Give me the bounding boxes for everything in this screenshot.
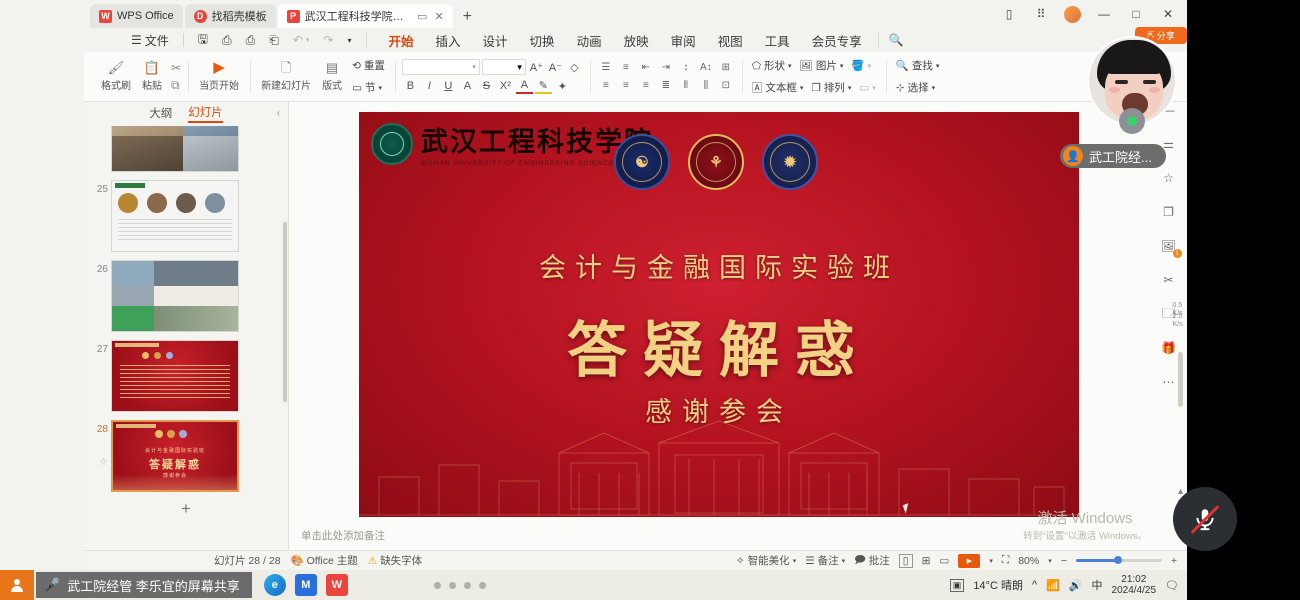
slide-thumbnail[interactable] [111, 340, 239, 412]
new-tab-button[interactable]: + [455, 8, 480, 28]
button-label: 节 [365, 80, 376, 95]
arrange-icon: ❐ [811, 82, 820, 94]
network-up-speed: 2.5 K/s [1173, 313, 1183, 329]
dot [464, 582, 471, 589]
slide-subtitle: 会计与金融国际实验班 [359, 246, 1079, 285]
notes-pane[interactable]: 单击此处添加备注 [289, 522, 1187, 550]
fill-icon: 🪣 [851, 59, 864, 72]
panel-tabs: 大纲 幻灯片 ‹ [84, 102, 288, 124]
ribbon-tab-review[interactable]: 审阅 [660, 29, 707, 52]
tray-expand-icon[interactable]: ^ [1032, 579, 1037, 591]
print-icon[interactable]: ⎙ [241, 31, 261, 50]
missing-font-label: 缺失字体 [380, 553, 422, 568]
button-label: 新建幻灯片 [261, 77, 311, 92]
hamburger-icon: ☰ [131, 33, 142, 47]
list-item[interactable]: 25 [84, 176, 288, 256]
tab-wps-office[interactable]: W WPS Office [90, 4, 183, 28]
taskbar: 🎤 武工院经管 李乐宜的屏幕共享 e M W ▣ 14°C 晴朗 ^ 📶 🔊 中… [0, 570, 1187, 600]
minimize-button[interactable]: — [1089, 2, 1119, 26]
ribbon-tab-insert[interactable]: 插入 [425, 29, 472, 52]
more-icon[interactable]: ⋯ [1158, 372, 1180, 392]
dot [449, 582, 456, 589]
mic-icon[interactable]: 🎤 [44, 577, 60, 593]
beauty-wand-icon: ✧ [736, 555, 745, 567]
align-left-icon[interactable]: ≡ [597, 78, 615, 93]
volume-icon[interactable]: 🔊 [1069, 579, 1083, 592]
button-label: 重置 [364, 58, 385, 73]
section-icon: ▭ [352, 82, 362, 94]
slide-header: 武汉工程科技学院 WUHAN UNIVERSITY OF ENGINEERING… [371, 120, 653, 167]
clock-date: 2024/4/25 [1112, 585, 1157, 596]
find-button[interactable]: 🔍 查找▾ [893, 56, 943, 75]
docer-icon: D [194, 10, 207, 23]
slide-thumbnail[interactable] [111, 126, 239, 172]
ribbon-group-slides: 🗋 新建幻灯片 ▤ 版式 ⟲ 重置 ▭ 节 ▾ [250, 54, 395, 100]
list-item[interactable]: 28 ☆ 会计与金融国际实验班 答疑解惑 感谢参会 [84, 416, 288, 496]
start-icon[interactable] [0, 570, 34, 600]
comment-label: 批注 [869, 553, 890, 568]
beautify-label: 智能美化 [748, 553, 790, 568]
theme-value: Office 主题 [307, 553, 358, 568]
smartart-icon[interactable]: ⊡ [717, 78, 735, 93]
slide-number-value: 28 [97, 424, 108, 435]
tab-monitor-icon[interactable]: ▭ [417, 10, 427, 23]
warning-icon: ⚠ [368, 555, 377, 567]
status-bar: 幻灯片 28 / 28 🎨 Office 主题 ⚠ 缺失字体 ✧ 智能美化 ▾ … [84, 550, 1187, 570]
slide-editor-stage: 武汉工程科技学院 WUHAN UNIVERSITY OF ENGINEERING… [289, 102, 1187, 550]
missing-font-warning[interactable]: ⚠ 缺失字体 [368, 553, 422, 568]
document-tabs: W WPS Office D 找稻壳模板 P 武汉工程科技学院经济与管理 ▭ ✕… [84, 0, 480, 28]
participant-mic-indicator[interactable] [1119, 108, 1145, 134]
logo-badge-3: ✹ [762, 134, 818, 190]
search-icon[interactable]: 🔍 [884, 31, 909, 49]
wps-taskbar-icon[interactable]: W [326, 574, 348, 596]
numbered-list-icon[interactable]: ≡ [617, 60, 635, 75]
distribute-icon[interactable]: ⫴ [677, 78, 695, 93]
select-icon: ⊹ [896, 82, 905, 94]
slide-thumbnail-panel: 大纲 幻灯片 ‹ 24 25 [84, 102, 289, 550]
notes-icon: ☰ [805, 555, 814, 567]
slide-sorter-icon[interactable]: ⊞ [922, 555, 931, 567]
reading-view-icon[interactable]: ▭ [939, 555, 949, 567]
close-button[interactable]: ✕ [1153, 2, 1183, 26]
zoom-slider-fill [1076, 559, 1117, 562]
text-effect-icon[interactable]: ✦ [554, 78, 571, 94]
font-size-select[interactable]: ▾ [482, 59, 526, 75]
ribbon-tabs: 开始 插入 设计 切换 动画 放映 审阅 视图 工具 会员专享 🔍 [378, 29, 909, 52]
button-label: 形状 [764, 58, 785, 73]
clock-time: 21:02 [1121, 574, 1146, 585]
gift-icon[interactable]: 🎁 [1158, 338, 1180, 358]
wifi-icon[interactable]: 📶 [1046, 579, 1060, 592]
superscript-button[interactable]: X² [497, 78, 514, 94]
fit-to-window-icon[interactable]: ⛶ [1002, 554, 1009, 567]
add-slide-button[interactable]: + [84, 499, 288, 519]
button-label: 选择 [908, 80, 929, 95]
picture-button[interactable]: 🖼 图片▾ [797, 56, 847, 75]
system-tray: ▣ 14°C 晴朗 ^ 📶 🔊 中 21:02 2024/4/25 🗨 [950, 574, 1187, 597]
avatar-eye-right [1143, 80, 1156, 84]
print-preview-icon[interactable]: ⎗ [264, 31, 284, 50]
screenshot-icon[interactable]: 🖼1 [1158, 236, 1180, 256]
highlight-icon[interactable]: ✎ [535, 78, 552, 94]
divider [183, 33, 184, 47]
collapse-panel-icon[interactable]: ‹ [277, 108, 280, 119]
strikethrough-button[interactable]: S [478, 78, 495, 94]
logo-badges: ☯ ⚘ ✹ [614, 134, 818, 190]
outline-icon: ▭ [859, 82, 869, 94]
file-menu-button[interactable]: ☰ 文件 [126, 30, 174, 51]
slide-number: 26 [88, 260, 108, 275]
slide-thumbnail-selected[interactable]: 会计与金融国际实验班 答疑解惑 感谢参会 [111, 420, 239, 492]
avatar[interactable] [1064, 6, 1081, 23]
theme-icon: 🎨 [291, 554, 304, 567]
ribbon-group-editing: 🔍 查找▾ ⊹ 选择▾ [886, 54, 950, 100]
divider [878, 33, 879, 47]
textbox-icon: 🄰 [752, 80, 763, 95]
button-label: 图片 [816, 58, 837, 73]
zoom-slider-knob[interactable] [1114, 556, 1122, 564]
ime-indicator[interactable]: 中 [1092, 577, 1103, 593]
play-dropdown-icon[interactable]: ▾ [989, 557, 993, 565]
school-seal-icon [371, 123, 413, 165]
beautify-button[interactable]: ✧ 智能美化 ▾ [736, 553, 796, 568]
tab-label: 找稻壳模板 [212, 8, 267, 24]
slide-count-label: 幻灯片 28 / 28 [214, 553, 281, 568]
customize-icon[interactable]: ▾ [342, 34, 356, 47]
layout-icon: ▤ [326, 61, 338, 75]
new-slide-icon: 🗋 [281, 61, 291, 75]
avatar-eye-left [1115, 80, 1128, 84]
dot [434, 582, 441, 589]
present-current-button[interactable]: ▶ 当页开始 [195, 61, 243, 92]
ribbon-group-clipboard: 🖌 格式刷 📋 粘贴 ✂ ⧉ [90, 54, 188, 100]
tab-active-presentation[interactable]: P 武汉工程科技学院经济与管理 ▭ ✕ [278, 4, 453, 28]
tab-label: WPS Office [117, 10, 174, 22]
menu-bar: ☰ 文件 🖫 ⎙ ⎙ ⎗ ↶ ▾ ↷ ▾ 开始 插入 设计 切换 动画 放映 审… [84, 28, 1187, 52]
tab-close-icon[interactable]: ✕ [434, 10, 443, 23]
slide-number: 27 [88, 340, 108, 355]
avatar-bangs [1105, 52, 1163, 74]
font-grow-button[interactable]: A⁺ [528, 59, 545, 75]
normal-view-icon[interactable]: ▯ [899, 554, 913, 568]
comment-icon: 🗩 [854, 552, 866, 570]
notification-icon[interactable]: 🗨 [1165, 579, 1179, 592]
ppt-file-icon: P [287, 10, 300, 23]
italic-button[interactable]: I [421, 78, 438, 94]
button-label: 版式 [322, 77, 342, 92]
indent-increase-icon[interactable]: ⇥ [657, 60, 675, 75]
chevron-down-icon: ▾ [517, 62, 522, 73]
network-icon[interactable]: 🗔 0.5 K/s 2.5 K/s [1158, 304, 1180, 324]
cloud-save-icon[interactable]: ⎙ [217, 31, 237, 50]
layout-button[interactable]: ▤ 版式 [315, 61, 349, 92]
new-slide-button[interactable]: 🗋 新建幻灯片 [257, 61, 315, 92]
copy-window-icon[interactable]: ❐ [1158, 202, 1180, 222]
star-icon[interactable]: ☆ [88, 457, 108, 468]
badge-inner: ☯ [622, 142, 662, 182]
ribbon-toolbar: 🖌 格式刷 📋 粘贴 ✂ ⧉ ▶ 当页开始 🗋 新建幻灯片 [84, 52, 1187, 102]
divider [366, 33, 367, 47]
copy-icon[interactable]: ⧉ [171, 78, 181, 93]
underline-button[interactable]: U [440, 78, 457, 94]
notes-label: 备注 [818, 553, 839, 568]
ribbon-tab-animation[interactable]: 动画 [566, 29, 613, 52]
format-painter-icon: 🖌 [108, 61, 125, 75]
weather-icon[interactable]: ▣ [950, 579, 965, 592]
list-item[interactable]: 24 [84, 126, 288, 176]
zoom-dropdown-icon[interactable]: ▾ [1048, 557, 1052, 565]
ribbon-tab-member[interactable]: 会员专享 [801, 29, 873, 52]
reset-button[interactable]: ⟲ 重置 [349, 56, 388, 75]
align-right-icon[interactable]: ≡ [637, 78, 655, 93]
mic-muted-icon[interactable] [1173, 487, 1237, 551]
zoom-out-button[interactable]: − [1061, 555, 1067, 567]
zoom-level-label[interactable]: 80% [1018, 555, 1039, 567]
button-label: 文本框 [765, 80, 797, 95]
avatar-blush-left [1109, 87, 1120, 93]
badge-inner: ⚘ [696, 142, 736, 182]
paste-icon: 📋 [144, 61, 160, 75]
tab-label: 武汉工程科技学院经济与管理 [305, 8, 410, 24]
play-from-current-icon: ▶ [213, 61, 225, 75]
zoom-in-button[interactable]: + [1171, 555, 1177, 567]
outline-button[interactable]: ▭▾ [856, 80, 878, 96]
slide-number: 25 [88, 180, 108, 195]
shapes-button[interactable]: ⬠ 形状▾ [749, 56, 795, 75]
format-painter-button[interactable]: 🖌 格式刷 [97, 61, 135, 92]
beauty-wand-icon[interactable]: ✂ [1158, 270, 1180, 290]
grid-icon[interactable]: ⠿ [1026, 2, 1056, 26]
logo-badge-1: ☯ [614, 134, 670, 190]
ribbon-tab-transition[interactable]: 切换 [519, 29, 566, 52]
slide-thumbnail[interactable] [111, 260, 239, 332]
title-bar: W WPS Office D 找稻壳模板 P 武汉工程科技学院经济与管理 ▭ ✕… [84, 0, 1187, 28]
section-button[interactable]: ▭ 节 ▾ [349, 78, 388, 97]
theme-label[interactable]: 🎨 Office 主题 [291, 553, 358, 568]
screen-share-notice[interactable]: 🎤 武工院经管 李乐宜的屏幕共享 [36, 572, 252, 598]
panel-scrollbar[interactable] [283, 222, 287, 402]
clear-format-icon[interactable]: ◇ [566, 59, 583, 75]
person-icon: 👤 [1063, 146, 1083, 166]
button-label: 查找 [912, 58, 933, 73]
ribbon-group-font: ▾ ▾ A⁺ A⁻ ◇ B I U A S X² [395, 54, 590, 100]
justify-icon[interactable]: ≣ [657, 78, 675, 93]
slide-progress-dots [434, 582, 486, 589]
comment-button[interactable]: 🗩 批注 [854, 552, 890, 570]
redo-icon[interactable]: ↷ [318, 31, 338, 49]
ribbon-tab-tools[interactable]: 工具 [754, 29, 801, 52]
share-label: 分享 [1157, 29, 1175, 42]
ribbon-tab-slideshow[interactable]: 放映 [613, 29, 660, 52]
ribbon-tab-design[interactable]: 设计 [472, 29, 519, 52]
wps-office-window: W WPS Office D 找稻壳模板 P 武汉工程科技学院经济与管理 ▭ ✕… [0, 0, 1187, 600]
picture-icon: 🖼 [800, 59, 813, 72]
clock[interactable]: 21:02 2024/4/25 [1112, 574, 1157, 597]
columns-icon[interactable]: ⫼ [697, 78, 715, 93]
current-slide[interactable]: 武汉工程科技学院 WUHAN UNIVERSITY OF ENGINEERING… [359, 112, 1079, 517]
edge-icon[interactable]: e [264, 574, 286, 596]
ribbon-tab-view[interactable]: 视图 [707, 29, 754, 52]
weather-label[interactable]: 14°C 晴朗 [973, 577, 1023, 593]
window-controls: ▯ ⠿ — □ ✕ [994, 0, 1187, 28]
notes-button[interactable]: ☰ 备注 ▾ [805, 553, 845, 568]
cut-icon[interactable]: ✂ [171, 61, 181, 75]
font-color-button[interactable]: A [516, 78, 533, 94]
chevron-down-icon: ▾ [472, 63, 476, 71]
indent-decrease-icon[interactable]: ⇤ [637, 60, 655, 75]
shapes-icon: ⬠ [752, 60, 761, 72]
ribbon-group-paragraph: ☰ ≡ ⇤ ⇥ ↕ A↕ ⊞ ≡ ≡ ≡ ≣ ⫴ ⫼ ⊡ [590, 54, 742, 100]
sidebar-toggle-icon[interactable]: ▯ [994, 2, 1024, 26]
bold-button[interactable]: B [402, 78, 419, 94]
maximize-button[interactable]: □ [1121, 2, 1151, 26]
dot [479, 582, 486, 589]
font-shrink-button[interactable]: A⁻ [547, 59, 564, 75]
text-direction-icon[interactable]: A↕ [697, 60, 715, 75]
logo-badge-2: ⚘ [688, 134, 744, 190]
select-button[interactable]: ⊹ 选择▾ [893, 78, 943, 97]
campus-skyline-illustration [359, 407, 1079, 517]
button-label: 当页开始 [199, 77, 239, 92]
button-label: 排列 [824, 80, 845, 95]
fill-button[interactable]: 🪣▾ [848, 57, 874, 74]
undo-icon[interactable]: ↶ ▾ [288, 31, 315, 49]
meeting-app-icon[interactable]: M [295, 574, 317, 596]
mic-active-dot [1127, 116, 1137, 126]
ribbon-tab-home[interactable]: 开始 [378, 29, 425, 52]
participant-name: 武工院经... [1089, 147, 1152, 166]
font-family-select[interactable]: ▾ [402, 59, 480, 75]
textbox-button[interactable]: 🄰 文本框▾ [749, 78, 807, 97]
reset-icon: ⟲ [352, 60, 361, 72]
button-label: 格式刷 [101, 77, 131, 92]
share-notice-label: 武工院经管 李乐宜的屏幕共享 [67, 576, 240, 595]
slide-thumbnail[interactable] [111, 180, 239, 252]
list-item[interactable]: 26 [84, 256, 288, 336]
play-icon[interactable]: ▶ [958, 554, 980, 568]
ribbon-group-drawing: ⬠ 形状▾ 🖼 图片▾ 🪣▾ 🄰 文本框▾ [742, 54, 886, 100]
slide-title: 答疑解惑 [359, 302, 1079, 389]
slide-number: 28 ☆ [88, 420, 108, 468]
align-center-icon[interactable]: ≡ [617, 78, 635, 93]
align-text-icon[interactable]: ⊞ [717, 60, 735, 75]
tab-slides[interactable]: 幻灯片 [188, 104, 223, 123]
tab-outline[interactable]: 大纲 [149, 105, 172, 121]
wps-logo-icon: W [99, 10, 112, 23]
save-icon[interactable]: 🖫 [193, 28, 213, 53]
badge-inner: ✹ [770, 142, 810, 182]
bullet-list-icon[interactable]: ☰ [597, 60, 615, 75]
line-spacing-icon[interactable]: ↕ [677, 60, 695, 75]
participant-name-chip[interactable]: 👤 武工院经... [1060, 144, 1166, 168]
taskbar-app-icons: e M W [252, 574, 348, 596]
search-icon: 🔍 [896, 59, 909, 72]
ribbon-group-present: ▶ 当页开始 [188, 54, 250, 100]
file-menu-label: 文件 [145, 32, 169, 49]
avatar-blush-right [1149, 87, 1160, 93]
thumbnail-list[interactable]: 24 25 [84, 126, 288, 522]
button-label: 粘贴 [142, 77, 162, 92]
shadow-button[interactable]: A [459, 78, 476, 94]
star-icon[interactable]: ☆ [1158, 168, 1180, 188]
arrange-button[interactable]: ❐ 排列▾ [808, 78, 854, 97]
tab-docer-template[interactable]: D 找稻壳模板 [185, 4, 276, 28]
zoom-slider[interactable] [1076, 559, 1162, 562]
paste-button[interactable]: 📋 粘贴 [135, 61, 169, 92]
list-item[interactable]: 27 [84, 336, 288, 416]
